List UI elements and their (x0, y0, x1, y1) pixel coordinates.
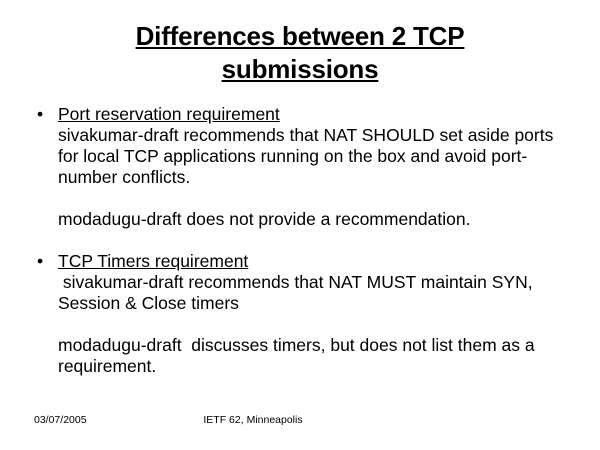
page-title-line-1-text: Differences between 2 TCP (136, 21, 465, 51)
page-title-line-2-text: submissions (222, 54, 379, 84)
page-title-line-1: Differences between 2 TCP (20, 20, 580, 53)
bullet-body-tcp-timers: sivakumar-draft recommends that NAT MUST… (30, 272, 575, 314)
bullet-followup-tcp-timers: modadugu-draft discusses timers, but doe… (30, 335, 575, 377)
bullet-heading-text: Port reservation requirement (58, 104, 280, 124)
bullet-item-tcp-timers: • TCP Timers requirement sivakumar-draft… (30, 251, 575, 377)
slide-body: • Port reservation requirement sivakumar… (30, 104, 575, 377)
bullet-group-spacer (30, 230, 575, 251)
page-title: Differences between 2 TCP submissions (20, 20, 580, 86)
slide-footer: 03/07/2005 IETF 62, Minneapolis (0, 411, 600, 429)
footer-event: IETF 62, Minneapolis (0, 411, 600, 429)
bullet-body-port-reservation: sivakumar-draft recommends that NAT SHOU… (30, 125, 575, 188)
bullet-heading-tcp-timers: • TCP Timers requirement (30, 251, 575, 272)
bullet-point-icon: • (37, 251, 51, 272)
bullet-heading-text: TCP Timers requirement (58, 251, 248, 271)
bullet-heading-port-reservation: • Port reservation requirement (30, 104, 575, 125)
slide: Differences between 2 TCP submissions • … (0, 0, 600, 450)
page-title-line-2: submissions (20, 53, 580, 86)
bullet-point-icon: • (37, 104, 51, 125)
paragraph-spacer (30, 188, 575, 209)
bullet-item-port-reservation: • Port reservation requirement sivakumar… (30, 104, 575, 230)
paragraph-spacer (30, 314, 575, 335)
bullet-followup-port-reservation: modadugu-draft does not provide a recomm… (30, 209, 575, 230)
